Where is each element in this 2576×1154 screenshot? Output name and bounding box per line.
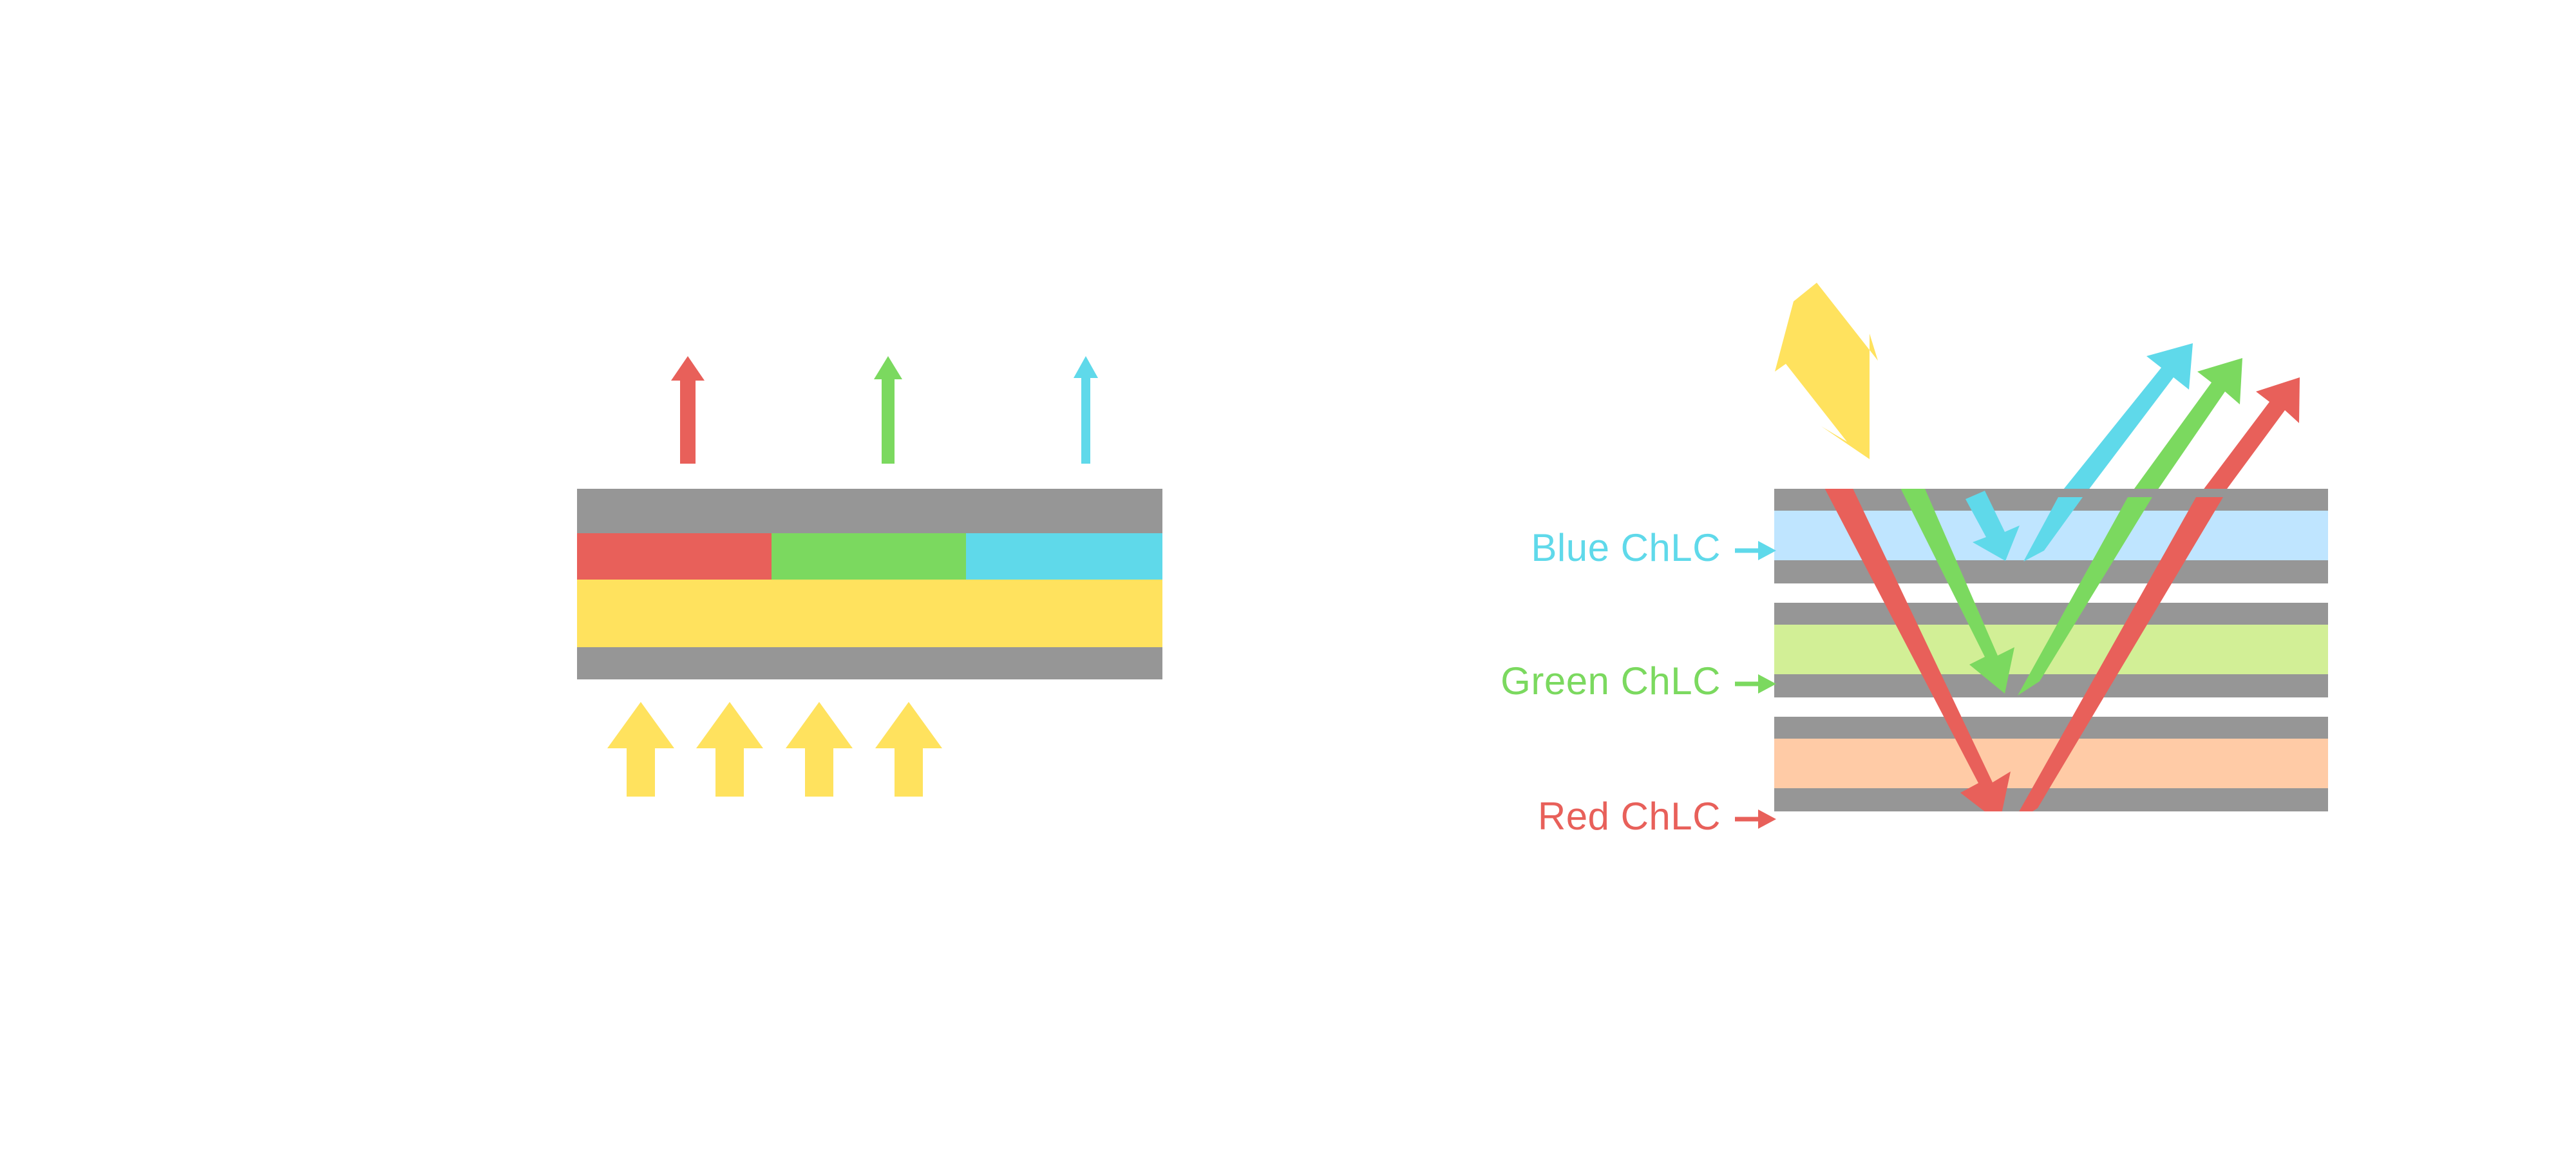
red-chlc-label-text: Red ChLC [1538, 795, 1721, 838]
blue-chlc-label: Blue ChLC [1531, 526, 1776, 569]
red-chlc-label-arrowhead [1758, 809, 1776, 829]
green-top-electrode [1774, 603, 2328, 625]
red-emission-arrow [671, 356, 705, 464]
backlight-arrow [875, 702, 942, 797]
bottom-electrode-layer [577, 647, 1162, 679]
right-panel-labels: Blue ChLC Green ChLC Red ChLC [1501, 526, 1776, 838]
red-chlc-label: Red ChLC [1538, 795, 1776, 838]
emitted-arrows-group [671, 356, 1098, 464]
right-stack-panel: Blue ChLC Green ChLC Red ChLC [1501, 283, 2328, 838]
blue-bottom-electrode [1774, 560, 2328, 583]
blue-subpixel-segment [966, 533, 1162, 580]
backlight-arrow [607, 702, 674, 797]
diagram-canvas: Blue ChLC Green ChLC Red ChLC [0, 0, 2576, 1154]
blue-emission-arrow [1074, 356, 1098, 464]
backlight-layer [577, 580, 1162, 647]
green-chlc-label-text: Green ChLC [1501, 659, 1721, 703]
red-top-electrode [1774, 717, 2328, 739]
diagram-svg: Blue ChLC Green ChLC Red ChLC [0, 0, 2576, 1154]
red-subpixel-segment [577, 533, 772, 580]
white-light-incident-arrow [1775, 283, 1878, 459]
top-electrode-layer [577, 489, 1162, 533]
red-bottom-electrode [1774, 788, 2328, 811]
green-bottom-electrode [1774, 674, 2328, 697]
left-stack-panel [577, 356, 1162, 797]
blue-chlc-label-arrowhead [1758, 541, 1776, 560]
green-chlc-label-arrowhead [1758, 674, 1776, 694]
green-chlc-label: Green ChLC [1501, 659, 1776, 703]
left-stack-layers [577, 489, 1162, 679]
blue-chlc-label-text: Blue ChLC [1531, 526, 1721, 569]
backlight-arrow [696, 702, 763, 797]
backlight-arrow [786, 702, 853, 797]
blue-reflected-ray [2058, 343, 2193, 496]
backlight-arrows-group [607, 702, 942, 797]
reflected-rays-above-group [2058, 343, 2300, 496]
green-subpixel-segment [772, 533, 966, 580]
green-emission-arrow [874, 356, 902, 464]
